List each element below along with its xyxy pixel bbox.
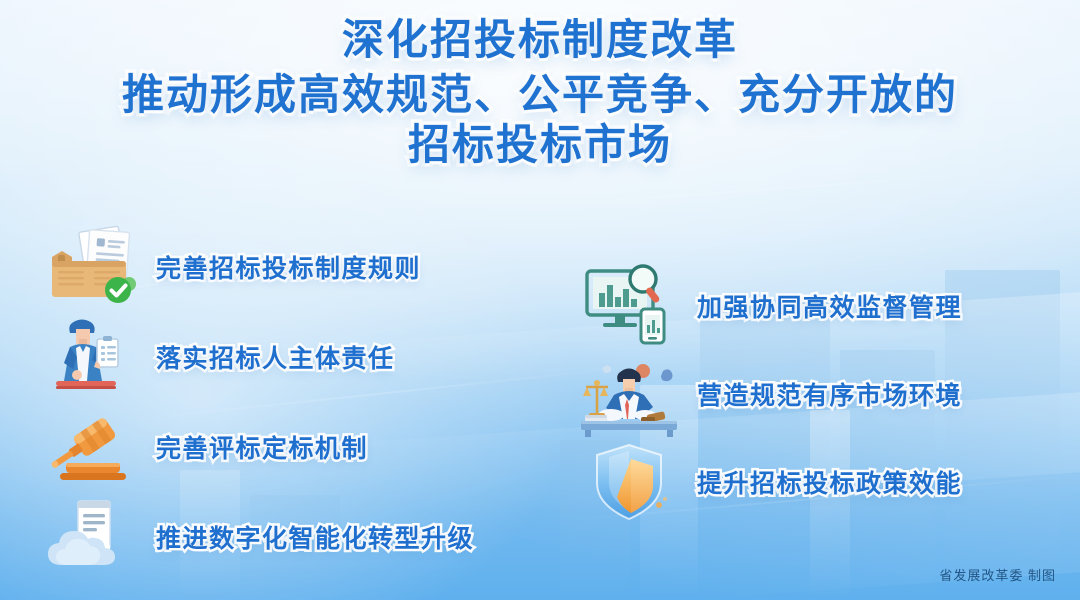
poster-subtitle-1: 推动形成高效规范、公平竞争、充分开放的 [0,71,1080,120]
infographic-poster: 深化招投标制度改革 推动形成高效规范、公平竞争、充分开放的 招标投标市场 [0,0,1080,600]
list-item-label: 提升招标投标政策效能 [697,464,962,500]
right-item-column: 加强协同高效监督管理 [575,262,1065,526]
poster-title: 深化招投标制度改革 [0,16,1080,65]
shield-icon [575,439,683,525]
left-item-column: 完善招标投标制度规则 [38,222,558,582]
list-item: 落实招标人主体责任 [38,312,558,402]
gavel-icon [38,405,142,489]
person-clipboard-icon [38,315,142,399]
document-box-check-icon [38,225,142,309]
list-item: 加强协同高效监督管理 [575,262,1065,350]
footer-credit: 省发展改革委 制图 [939,565,1056,584]
list-item: 完善评标定标机制 [38,402,558,492]
monitor-chart-magnifier-icon [575,263,683,349]
title-block: 深化招投标制度改革 推动形成高效规范、公平竞争、充分开放的 招标投标市场 [0,16,1080,170]
list-item-label: 落实招标人主体责任 [156,339,395,375]
poster-subtitle-2: 招标投标市场 [0,121,1080,170]
list-item: 营造规范有序市场环境 [575,350,1065,438]
list-item: 提升招标投标政策效能 [575,438,1065,526]
cloud-document-icon [38,495,142,579]
list-item-label: 推进数字化智能化转型升级 [156,519,474,555]
list-item-label: 完善评标定标机制 [156,429,368,465]
list-item: 推进数字化智能化转型升级 [38,492,558,582]
list-item-label: 营造规范有序市场环境 [697,376,962,412]
list-item: 完善招标投标制度规则 [38,222,558,312]
list-item-label: 完善招标投标制度规则 [156,249,421,285]
judge-desk-scales-icon [575,351,683,437]
list-item-label: 加强协同高效监督管理 [697,288,962,324]
